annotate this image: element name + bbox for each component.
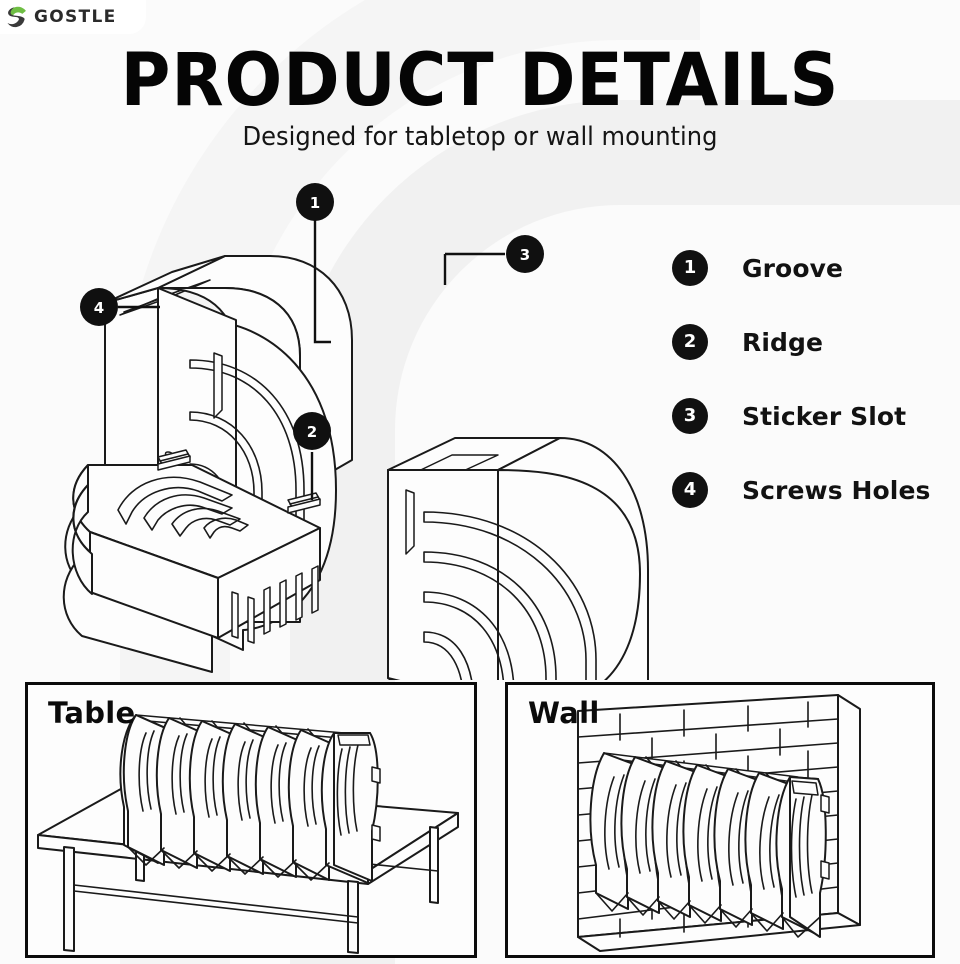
groove-slot-left — [214, 353, 222, 418]
swirl-logo-icon — [4, 4, 30, 30]
table-leg-front-left — [64, 847, 74, 951]
ridge-tab-wall-top — [821, 795, 829, 813]
page-title: PRODUCT DETAILS — [34, 44, 927, 117]
legend-label-3: Sticker Slot — [742, 402, 906, 431]
legend-item-screws-holes[interactable]: 4 Screws Holes — [672, 472, 952, 508]
callout-2-number: 2 — [307, 423, 317, 441]
legend-item-groove[interactable]: 1 Groove — [672, 250, 952, 286]
legend-item-sticker-slot[interactable]: 3 Sticker Slot — [672, 398, 952, 434]
product-details-page: GOSTLE PRODUCT DETAILS Designed for tabl… — [0, 0, 960, 964]
panel-table-title: Table — [48, 699, 135, 728]
panel-wall: Wall — [505, 682, 935, 958]
legend-label-1: Groove — [742, 254, 843, 283]
legend-label-4: Screws Holes — [742, 476, 931, 505]
ridge-tab-table-top — [372, 767, 380, 783]
sticker-slot-wall — [792, 781, 818, 795]
ridge-tab-wall-bottom — [821, 861, 829, 879]
brand-badge: GOSTLE — [0, 0, 146, 34]
groove-slot-right — [406, 490, 414, 554]
organizer-row-table — [120, 715, 380, 883]
legend-item-ridge[interactable]: 2 Ridge — [672, 324, 952, 360]
legend-badge-1: 1 — [672, 250, 708, 286]
table-leg-back-right — [430, 827, 438, 903]
panel-wall-title: Wall — [528, 699, 600, 728]
legend-badge-3: 3 — [672, 398, 708, 434]
callout-3-number: 3 — [520, 246, 530, 264]
callout-1-number: 1 — [310, 194, 320, 212]
ridge-tab-table-bottom — [372, 825, 380, 841]
unit-upright-right — [388, 438, 648, 680]
callout-3-sticker-slot: 3 — [445, 235, 544, 285]
callout-4-number: 4 — [94, 299, 104, 317]
brand-name: GOSTLE — [34, 9, 117, 26]
panel-table: Table — [25, 682, 477, 958]
legend-badge-4: 4 — [672, 472, 708, 508]
legend-badge-2: 2 — [672, 324, 708, 360]
legend-list: 1 Groove 2 Ridge 3 Sticker Slot 4 Screws… — [672, 250, 952, 546]
page-subtitle: Designed for tabletop or wall mounting — [34, 124, 927, 150]
legend-label-2: Ridge — [742, 328, 823, 357]
